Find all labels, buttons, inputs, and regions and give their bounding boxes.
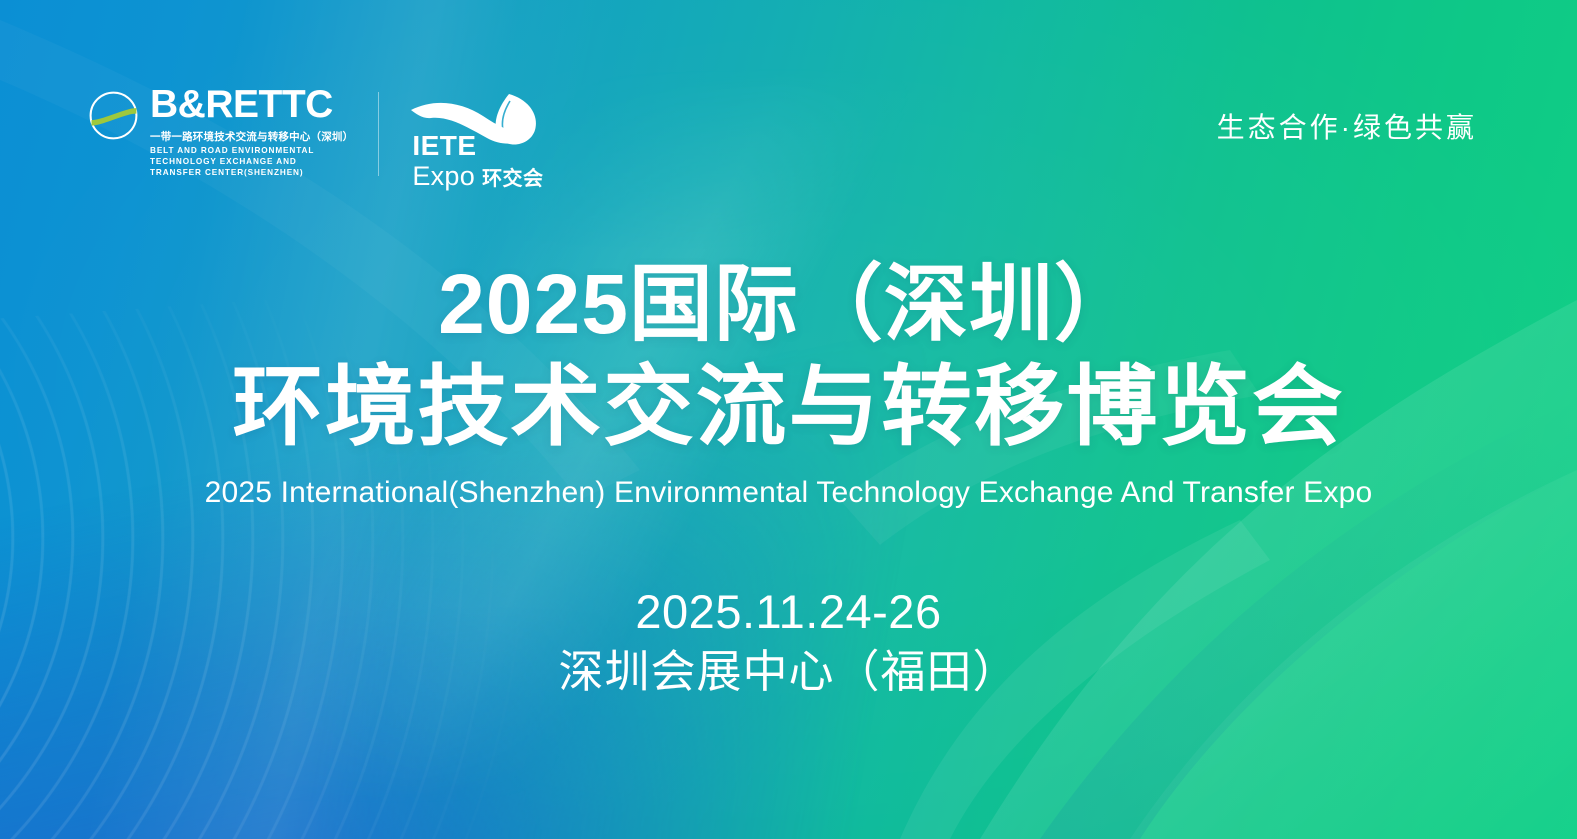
event-banner: B&RETTC 一带一路环境技术交流与转移中心（深圳） BELT AND ROA… xyxy=(0,0,1577,839)
logo-brettc-wordmark: B&RETTC xyxy=(150,86,353,124)
event-title-line1: 2025国际（深圳） xyxy=(0,262,1577,346)
logo-iete-chinese-short: 环交会 xyxy=(482,169,544,189)
logo-iete-expo: IETE Expo 环交会 xyxy=(409,90,567,190)
event-venue: 深圳会展中心（福田） xyxy=(0,645,1577,700)
event-date: 2025.11.24-26 xyxy=(0,584,1577,639)
globe-icon xyxy=(86,88,141,143)
header-slogan: 生态合作·绿色共赢 xyxy=(1217,106,1477,146)
logo-brettc-text: B&RETTC 一带一路环境技术交流与转移中心（深圳） BELT AND ROA… xyxy=(150,86,353,179)
event-details: 2025.11.24-26 深圳会展中心（福田） xyxy=(0,584,1577,700)
logo-brettc-english-name: BELT AND ROAD ENVIRONMENTAL TECHNOLOGY E… xyxy=(150,146,345,178)
logo-group: B&RETTC 一带一路环境技术交流与转移中心（深圳） BELT AND ROA… xyxy=(86,86,567,190)
logo-iete-expo-word: Expo xyxy=(412,163,475,190)
logo-brettc-chinese-name: 一带一路环境技术交流与转移中心（深圳） xyxy=(150,129,353,144)
event-title-line2: 环境技术交流与转移博览会 xyxy=(0,363,1577,451)
event-title-english: 2025 International(Shenzhen) Environment… xyxy=(0,476,1577,510)
logo-brettc: B&RETTC 一带一路环境技术交流与转移中心（深圳） BELT AND ROA… xyxy=(86,86,379,179)
banner-main: 2025国际（深圳） 环境技术交流与转移博览会 2025 Internation… xyxy=(0,262,1577,700)
logo-iete-subline: Expo 环交会 xyxy=(412,163,543,190)
logo-iete-acronym: IETE xyxy=(412,132,543,160)
logo-iete-words: IETE Expo 环交会 xyxy=(412,132,543,190)
banner-header: B&RETTC 一带一路环境技术交流与转移中心（深圳） BELT AND ROA… xyxy=(0,0,1577,210)
